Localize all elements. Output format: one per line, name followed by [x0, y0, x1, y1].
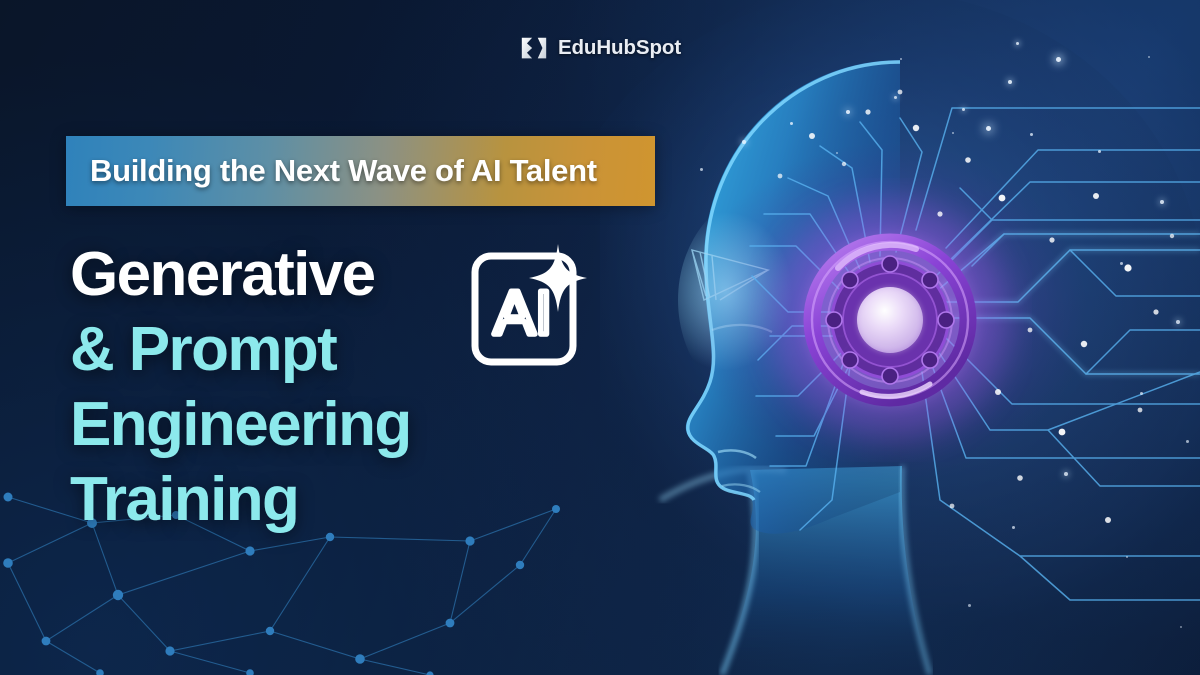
- ai-badge-icon: AI: [461, 236, 591, 376]
- eyebrow-text: Building the Next Wave of AI Talent: [66, 153, 597, 189]
- headline-line-2: & Prompt: [70, 312, 411, 387]
- brand-logo[interactable]: EduHubSpot: [0, 33, 1200, 63]
- ai-head-profile-icon: [600, 0, 1200, 675]
- eyebrow-banner: Building the Next Wave of AI Talent: [66, 136, 655, 206]
- glowing-brain-core-icon: [772, 202, 1008, 438]
- brand-name: EduHubSpot: [558, 36, 681, 60]
- eduhubspot-chevron-logo-icon: [519, 33, 549, 63]
- headline-line-3: Engineering: [70, 387, 411, 462]
- ai-badge-label: AI: [494, 279, 553, 348]
- headline-line-1: Generative: [70, 237, 375, 312]
- headline-block: Generative & Prompt Engineering Training: [70, 237, 411, 537]
- promo-banner: EduHubSpot Building the Next Wave of AI …: [0, 0, 1200, 675]
- headline-line-4: Training: [70, 462, 411, 537]
